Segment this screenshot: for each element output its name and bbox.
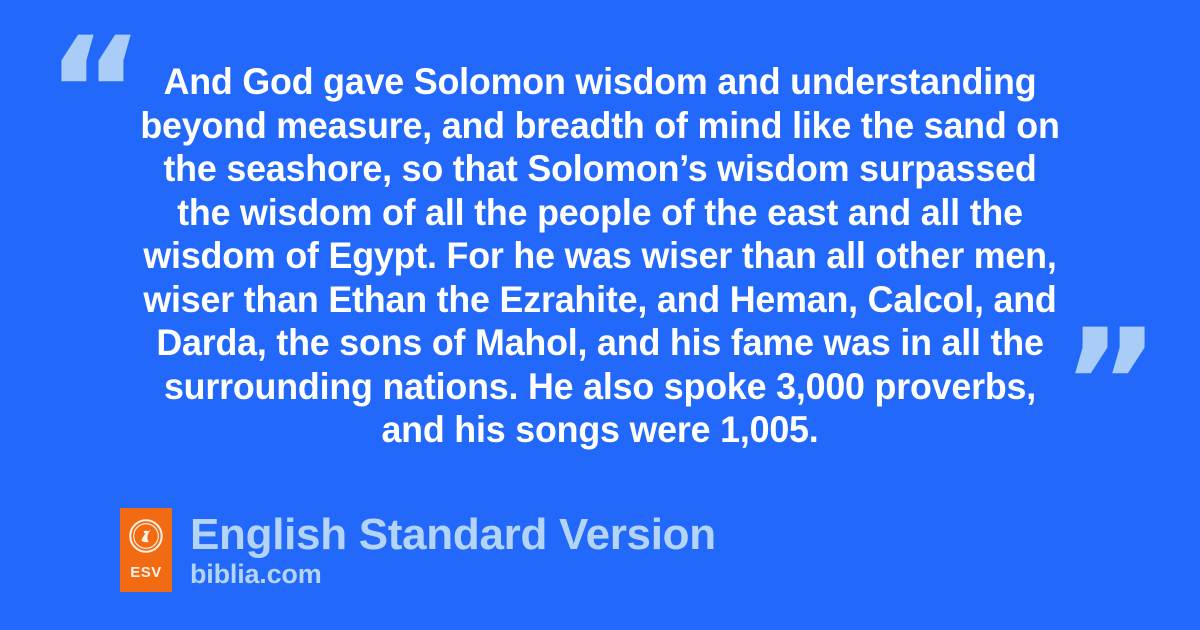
attribution: ESV English Standard Version biblia.com [120, 508, 716, 592]
opening-quote-icon: “ [46, 18, 143, 168]
esv-badge: ESV [120, 508, 172, 592]
translation-title: English Standard Version [190, 512, 716, 558]
closing-quote-icon: ” [1061, 310, 1158, 460]
esv-badge-label: ESV [130, 565, 162, 580]
website-label: biblia.com [190, 559, 716, 589]
attribution-text: English Standard Version biblia.com [190, 512, 716, 589]
quote-text: And God gave Solomon wisdom and understa… [132, 60, 1068, 452]
quote-card: “ And God gave Solomon wisdom and unders… [0, 0, 1200, 630]
esv-seal-icon [129, 519, 163, 553]
